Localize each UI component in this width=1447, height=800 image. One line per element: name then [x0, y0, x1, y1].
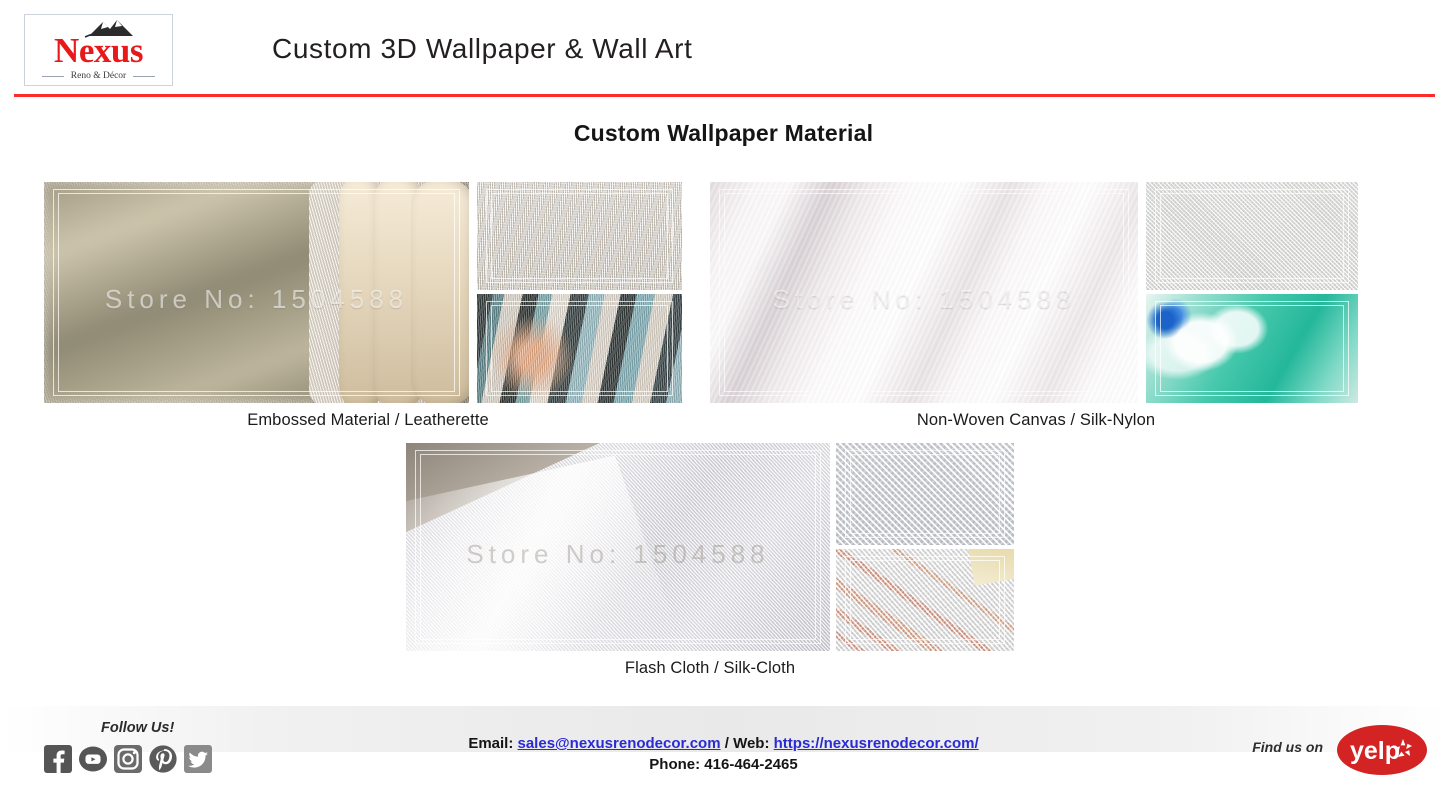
- web-label: Web:: [733, 735, 769, 752]
- silk-floral-print[interactable]: [1146, 294, 1358, 403]
- thumb-frame-lines: [836, 443, 1014, 545]
- thumb-frame-lines: [1146, 294, 1358, 403]
- photo-frame-lines: [710, 182, 1138, 403]
- material-group-images: Store No: 1504588: [710, 182, 1362, 403]
- material-group-embossed[interactable]: Store No: 1504588 Embossed Material / Le…: [44, 182, 692, 430]
- material-caption-embossed: Embossed Material / Leatherette: [44, 411, 692, 430]
- logo-tagline: Reno & Décor: [71, 71, 126, 81]
- non-woven-thumbnails: [1146, 182, 1358, 403]
- page-footer: Follow Us!: [0, 706, 1447, 800]
- store-watermark: Store No: 1504588: [710, 284, 1138, 315]
- material-group-flash-cloth[interactable]: Store No: 1504588 Flash Cloth / Silk-Clo…: [406, 443, 1014, 678]
- material-group-images: Store No: 1504588: [406, 443, 1014, 651]
- thumb-frame-lines: [477, 182, 682, 290]
- embossed-thumbnails: [477, 182, 682, 403]
- page-header: Nexus Reno & Décor Custom 3D Wallpaper &…: [0, 0, 1447, 100]
- embossed-texture-closeup[interactable]: [477, 182, 682, 290]
- material-caption-flash-cloth: Flash Cloth / Silk-Cloth: [406, 659, 1014, 678]
- thumb-frame-lines: [1146, 182, 1358, 290]
- phone-number: 416-464-2465: [704, 756, 797, 773]
- thumb-frame-lines: [836, 549, 1014, 651]
- flash-cloth-thumbnails: [836, 443, 1014, 651]
- embossed-printed-pattern[interactable]: [477, 294, 682, 403]
- find-us-on-label: Find us on: [1252, 739, 1323, 755]
- contact-phone-line: Phone: 416-464-2465: [0, 756, 1447, 773]
- material-group-non-woven[interactable]: Store No: 1504588 Non-Woven Canvas / Sil…: [710, 182, 1362, 430]
- contact-separator: /: [725, 735, 729, 752]
- embossed-wallpaper-roll-photo[interactable]: Store No: 1504588: [44, 182, 469, 403]
- brand-logo[interactable]: Nexus Reno & Décor: [24, 14, 173, 86]
- flash-cloth-fabric-photo[interactable]: Store No: 1504588: [406, 443, 830, 651]
- email-link[interactable]: sales@nexusrenodecor.com: [518, 735, 721, 752]
- logo-tagline-wrap: Reno & Décor: [25, 71, 172, 81]
- wallpaper-roll-edge-1: [411, 182, 469, 403]
- slide-root: Nexus Reno & Décor Custom 3D Wallpaper &…: [0, 0, 1447, 800]
- email-label: Email:: [468, 735, 513, 752]
- page-title: Custom 3D Wallpaper & Wall Art: [272, 33, 693, 65]
- material-caption-non-woven: Non-Woven Canvas / Silk-Nylon: [710, 411, 1362, 430]
- website-link[interactable]: https://nexusrenodecor.com/: [774, 735, 979, 752]
- non-woven-mesh-closeup[interactable]: [1146, 182, 1358, 290]
- yelp-wordmark: yelp: [1350, 737, 1400, 765]
- material-group-images: Store No: 1504588: [44, 182, 692, 403]
- phone-label: Phone:: [649, 756, 700, 773]
- silk-cloth-red-stripe-print[interactable]: [836, 549, 1014, 651]
- logo-rule-right: [133, 76, 155, 77]
- logo-rule-left: [42, 76, 64, 77]
- header-divider: [14, 94, 1435, 97]
- section-heading: Custom Wallpaper Material: [0, 120, 1447, 147]
- follow-us-label: Follow Us!: [101, 720, 174, 736]
- contact-email-line: Email: sales@nexusrenodecor.com / Web: h…: [0, 735, 1447, 752]
- mountain-logo-icon: [83, 17, 137, 39]
- thumb-frame-lines: [477, 294, 682, 403]
- silk-nylon-fabric-photo[interactable]: Store No: 1504588: [710, 182, 1138, 403]
- yelp-logo-icon[interactable]: yelp: [1335, 724, 1429, 776]
- flash-cloth-weave-closeup[interactable]: [836, 443, 1014, 545]
